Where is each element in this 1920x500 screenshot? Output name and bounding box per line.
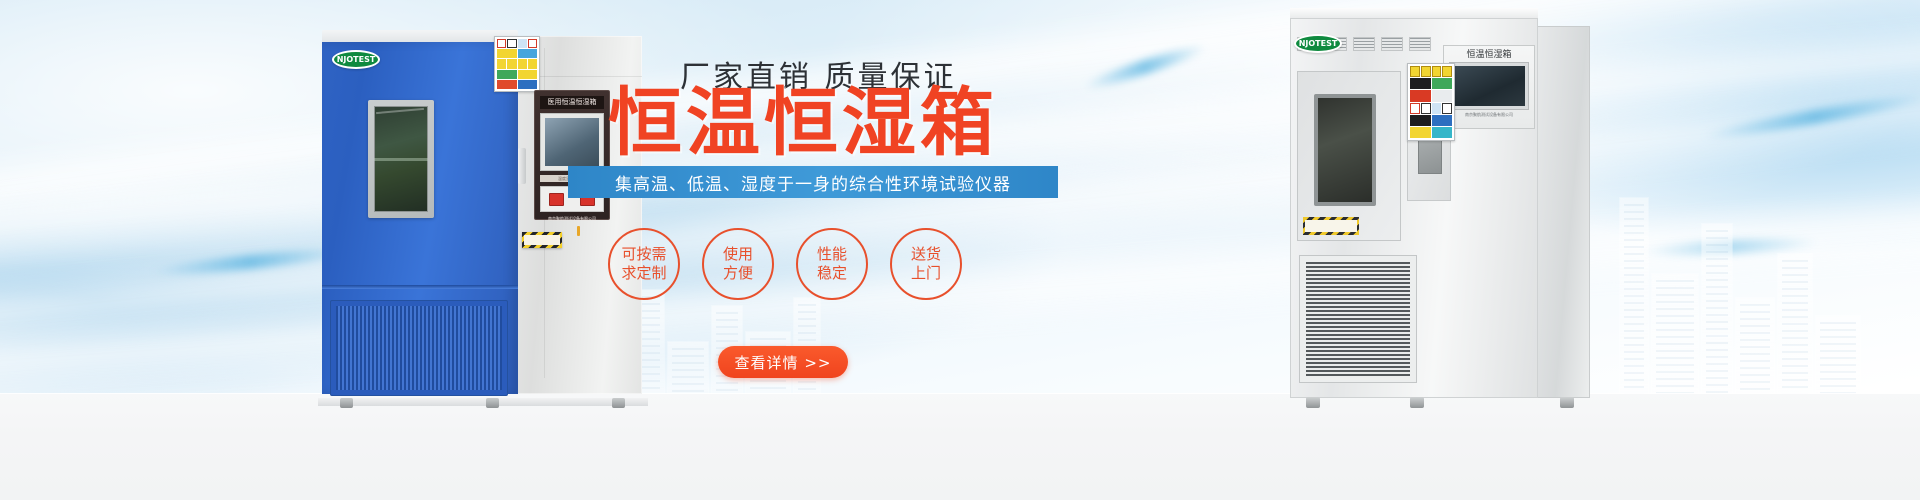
feature-line-1: 可按需 — [621, 245, 666, 264]
feature-line-1: 送货 — [911, 245, 941, 264]
feature-line-2: 求定制 — [621, 264, 666, 283]
view-details-button[interactable]: 查看详情 >> — [718, 346, 848, 378]
subtitle-text: 集高温、低温、湿度于一身的综合性环境试验仪器 — [615, 170, 1011, 195]
feature-line-1: 性能 — [817, 245, 847, 264]
banner-copy: 厂家直销 质量保证 恒温恒湿箱 集高温、低温、湿度于一身的综合性环境试验仪器 可… — [0, 0, 1920, 500]
feature-circle-4[interactable]: 送货 上门 — [890, 228, 962, 300]
feature-line-2: 方便 — [723, 264, 753, 283]
feature-circle-1[interactable]: 可按需 求定制 — [608, 228, 680, 300]
feature-line-2: 上门 — [911, 264, 941, 283]
feature-line-2: 稳定 — [817, 264, 847, 283]
subtitle-bar: 集高温、低温、湿度于一身的综合性环境试验仪器 — [568, 166, 1058, 198]
view-details-label: 查看详情 >> — [735, 352, 832, 373]
page-title: 恒温恒湿箱 — [608, 84, 1088, 162]
feature-circle-3[interactable]: 性能 稳定 — [796, 228, 868, 300]
feature-line-1: 使用 — [723, 245, 753, 264]
feature-circle-list: 可按需 求定制 使用 方便 性能 稳定 送货 上门 — [608, 228, 1028, 316]
product-banner: NJOTEST 医用恒温恒湿箱 温度显示控制器 南京聚 — [0, 0, 1920, 500]
feature-circle-2[interactable]: 使用 方便 — [702, 228, 774, 300]
